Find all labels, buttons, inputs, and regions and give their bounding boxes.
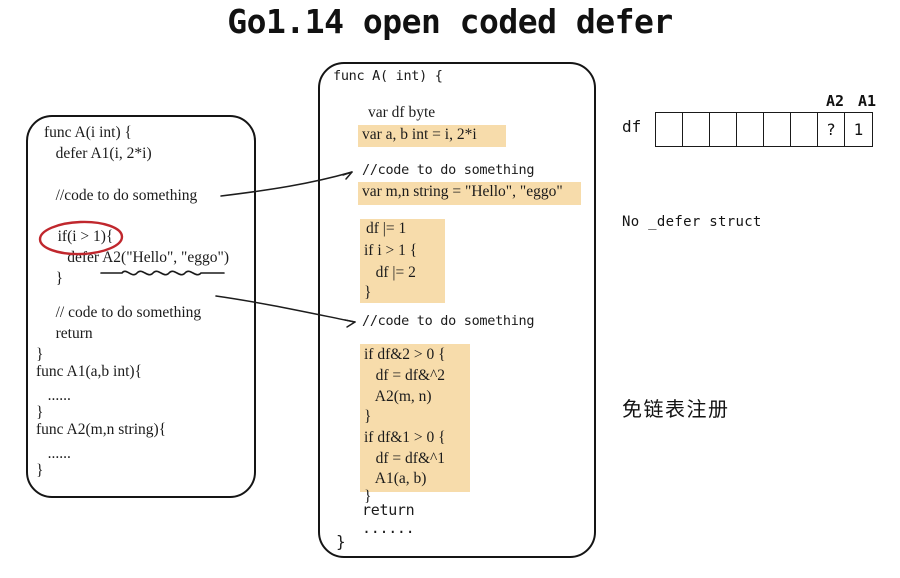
left-code-line-7: } — [44, 271, 63, 287]
mid-code-line-8: //code to do something — [362, 315, 534, 329]
left-code-line-3: //code to do something — [44, 188, 197, 204]
df-bitfield-table: ? 1 — [655, 112, 873, 147]
mid-code-line-12: } — [364, 409, 371, 425]
mid-code-line-19: } — [336, 534, 345, 550]
mid-code-line-7: } — [364, 285, 371, 301]
bit-cell-a1: 1 — [845, 113, 872, 146]
bit-cell-2 — [710, 113, 737, 146]
bit-cell-1 — [683, 113, 710, 146]
left-code-line-14: } — [36, 405, 43, 421]
left-code-line-12: func A1(a,b int){ — [36, 364, 142, 380]
bit-cell-3 — [737, 113, 764, 146]
mid-code-line-3: var m,n string = "Hello", "eggo" — [362, 184, 563, 200]
left-code-line-1: defer A1(i, 2*i) — [44, 146, 152, 162]
mid-code-line-15: A1(a, b) — [364, 471, 426, 487]
bit-cell-4 — [764, 113, 791, 146]
left-code-line-15: func A2(m,n string){ — [36, 422, 166, 438]
mid-code-line-1: var a, b int = i, 2*i — [362, 127, 477, 143]
note-no-defer-struct: No _defer struct — [622, 214, 762, 230]
bit-cell-a2: ? — [818, 113, 845, 146]
mid-code-line-17: return — [362, 503, 414, 518]
df-variable-label: df — [622, 117, 641, 136]
mid-code-line-9: if df&2 > 0 { — [364, 347, 446, 363]
mid-code-line-10: df = df&^2 — [364, 368, 445, 384]
mid-code-line-0: var df byte — [368, 105, 435, 121]
mid-code-line-14: df = df&^1 — [364, 451, 445, 467]
page-title: Go1.14 open coded defer — [0, 2, 900, 41]
mid-code-line-4: df |= 1 — [366, 221, 406, 237]
bit-header-a1: A1 — [858, 92, 876, 110]
left-code-line-9: // code to do something — [44, 305, 201, 321]
note-chinese: 免链表注册 — [622, 393, 730, 422]
left-code-line-13: ...... — [36, 388, 71, 404]
bit-cell-0 — [656, 113, 683, 146]
bit-cell-5 — [791, 113, 818, 146]
left-code-line-16: ...... — [36, 446, 71, 462]
mid-code-signature: func A( int) { — [333, 70, 443, 84]
mid-code-line-2: //code to do something — [362, 164, 534, 178]
mid-code-line-5: if i > 1 { — [364, 243, 417, 259]
mid-code-line-13: if df&1 > 0 { — [364, 430, 446, 446]
left-code-line-11: } — [36, 347, 43, 363]
mid-code-line-6: df |= 2 — [364, 265, 416, 281]
left-code-line-10: return — [44, 326, 93, 342]
bit-header-a2: A2 — [826, 92, 844, 110]
left-code-line-0: func A(i int) { — [44, 125, 132, 141]
left-code-line-5: if(i > 1){ — [46, 229, 113, 245]
left-code-line-6: defer A2("Hello", "eggo") — [44, 250, 229, 266]
mid-code-line-18: ...... — [362, 521, 414, 536]
left-code-line-17: } — [36, 463, 43, 479]
diagram-canvas: Go1.14 open coded defer func A(i int) { … — [0, 0, 900, 578]
mid-code-line-11: A2(m, n) — [364, 389, 432, 405]
